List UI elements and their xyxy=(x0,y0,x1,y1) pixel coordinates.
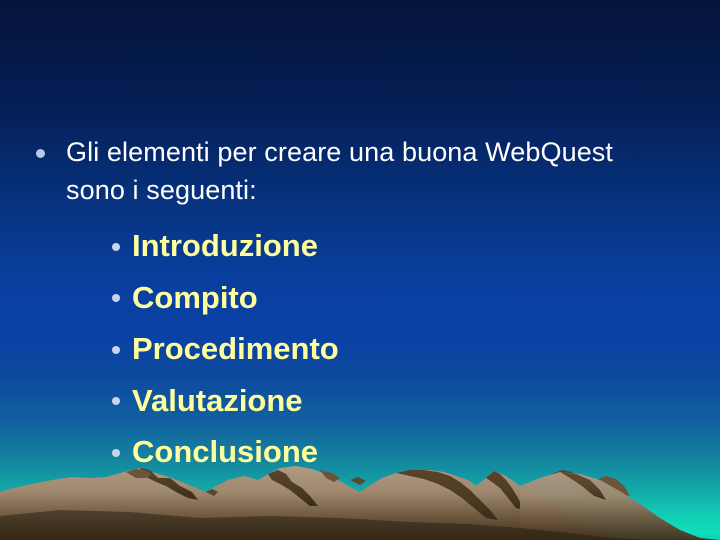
presentation-slide: Gli elementi per creare una buona WebQue… xyxy=(0,0,720,540)
level2-bullet-item-valutazione: Valutazione xyxy=(112,375,339,427)
level1-bullet-text: Gli elementi per creare una buona WebQue… xyxy=(66,133,636,209)
level2-bullet-label: Procedimento xyxy=(132,323,339,375)
round-bullet-icon xyxy=(112,243,120,251)
round-bullet-icon xyxy=(112,397,120,405)
round-bullet-icon xyxy=(36,149,45,158)
slide-content-body: Gli elementi per creare una buona WebQue… xyxy=(0,0,720,540)
level2-bullet-label: Conclusione xyxy=(132,426,318,478)
round-bullet-icon xyxy=(112,346,120,354)
round-bullet-icon xyxy=(112,449,120,457)
level2-bullet-item-introduzione: Introduzione xyxy=(112,220,339,272)
level1-bullet-item: Gli elementi per creare una buona WebQue… xyxy=(36,133,636,209)
level2-bullet-item-procedimento: Procedimento xyxy=(112,323,339,375)
level2-bullet-label: Introduzione xyxy=(132,220,318,272)
level2-bullet-list: Introduzione Compito Procedimento Valuta… xyxy=(112,220,339,478)
round-bullet-icon xyxy=(112,294,120,302)
level1-bullet-block: Gli elementi per creare una buona WebQue… xyxy=(36,133,636,209)
level2-bullet-item-compito: Compito xyxy=(112,272,339,324)
level2-bullet-item-conclusione: Conclusione xyxy=(112,426,339,478)
level2-bullet-label: Compito xyxy=(132,272,258,324)
level2-bullet-label: Valutazione xyxy=(132,375,303,427)
